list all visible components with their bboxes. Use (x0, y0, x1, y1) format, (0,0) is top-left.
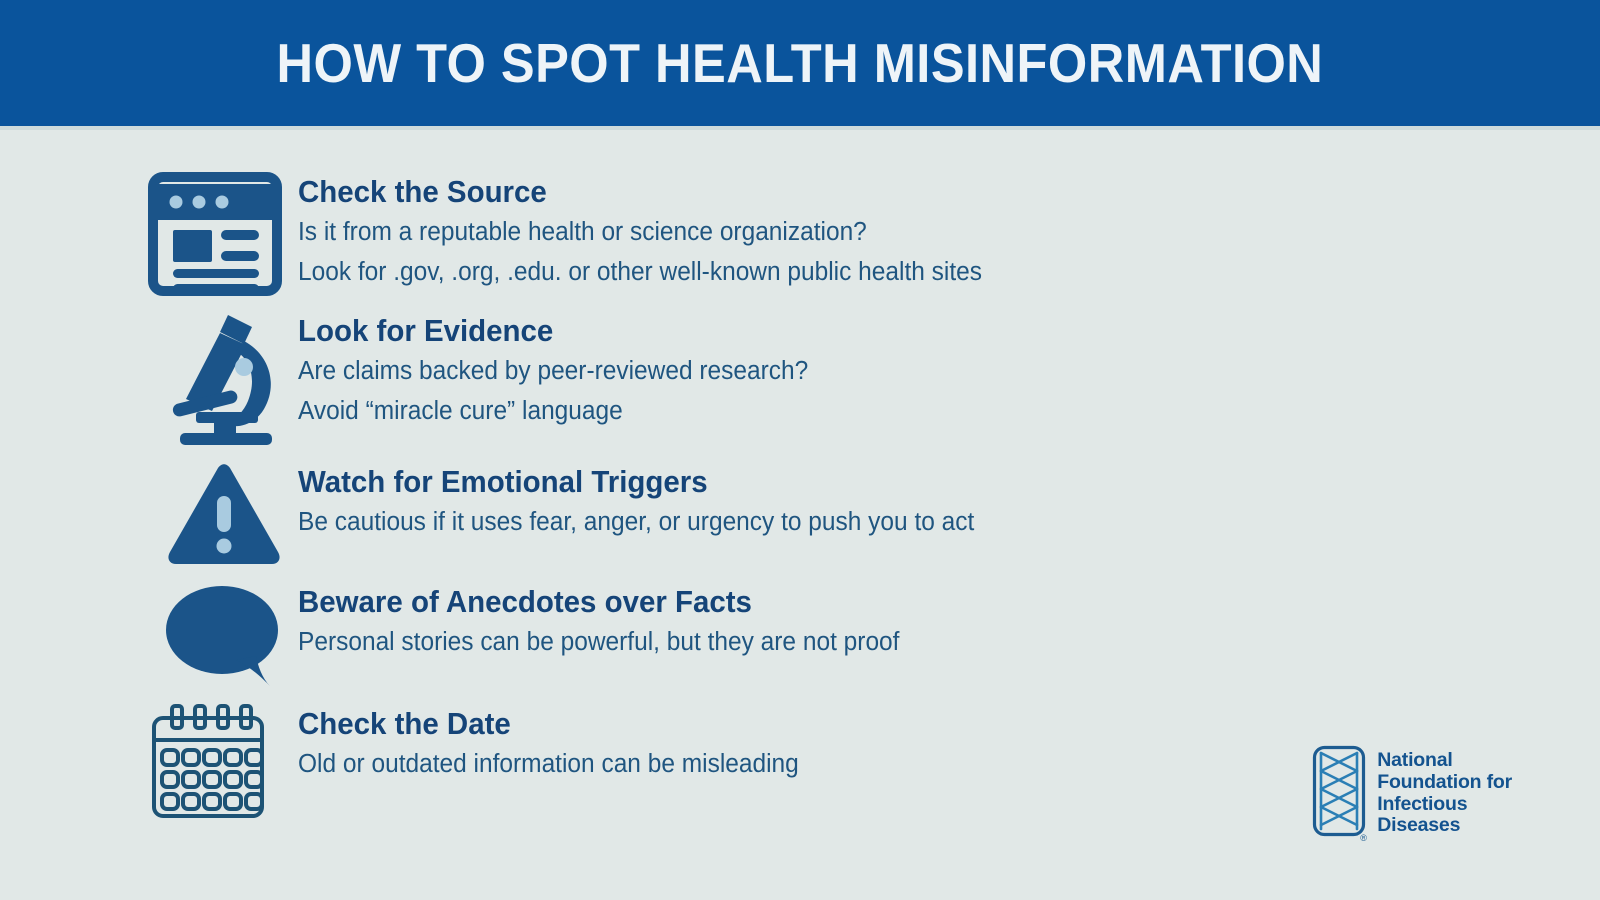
tip-body: Watch for Emotional Triggers Be cautious… (298, 460, 1003, 542)
calendar-icon (148, 702, 298, 820)
warning-triangle-icon (148, 460, 298, 566)
poster-header: HOW TO SPOT HEALTH MISINFORMATION (0, 0, 1600, 126)
page-title: HOW TO SPOT HEALTH MISINFORMATION (277, 31, 1324, 95)
tip-body: Check the Date Old or outdated informati… (298, 702, 820, 784)
tip-line: Is it from a reputable health or science… (298, 212, 982, 252)
registered-trademark-symbol: ® (1360, 834, 1367, 843)
microscope-icon (148, 309, 298, 447)
tip-title: Check the Date (298, 704, 794, 744)
tip-line: Old or outdated information can be misle… (298, 744, 799, 784)
tip-title: Look for Evidence (298, 311, 803, 351)
logo-line-4: Diseases (1377, 815, 1512, 837)
tip-line: Be cautious if it uses fear, anger, or u… (298, 502, 974, 542)
tip-title: Watch for Emotional Triggers (298, 462, 967, 502)
speech-bubble-icon (148, 580, 298, 688)
browser-window-icon (148, 170, 298, 296)
list-item: Watch for Emotional Triggers Be cautious… (0, 460, 1600, 566)
dna-helix-icon: ® (1312, 745, 1366, 842)
logo-line-2: Foundation for (1377, 772, 1512, 794)
tip-title: Beware of Anecdotes over Facts (298, 582, 893, 622)
tip-body: Beware of Anecdotes over Facts Personal … (298, 580, 925, 662)
logo-line-1: National (1377, 750, 1512, 772)
tip-line: Avoid “miracle cure” language (298, 391, 808, 431)
logo-line-3: Infectious (1377, 794, 1512, 816)
logo-text: National Foundation for Infectious Disea… (1377, 750, 1512, 837)
tip-line: Are claims backed by peer-reviewed resea… (298, 351, 808, 391)
infographic-poster: HOW TO SPOT HEALTH MISINFORMATION (0, 0, 1600, 900)
nfid-logo: ® National Foundation for Infectious Dis… (1312, 745, 1512, 842)
tip-body: Look for Evidence Are claims backed by p… (298, 309, 830, 431)
list-item: Beware of Anecdotes over Facts Personal … (0, 580, 1600, 688)
tip-title: Check the Source (298, 172, 975, 212)
list-item: Look for Evidence Are claims backed by p… (0, 309, 1600, 447)
tip-line: Look for .gov, .org, .edu. or other well… (298, 252, 982, 292)
tip-line: Personal stories can be powerful, but th… (298, 622, 899, 662)
tips-list: Check the Source Is it from a reputable … (0, 130, 1600, 820)
list-item: Check the Source Is it from a reputable … (0, 170, 1600, 296)
tip-body: Check the Source Is it from a reputable … (298, 170, 1011, 292)
